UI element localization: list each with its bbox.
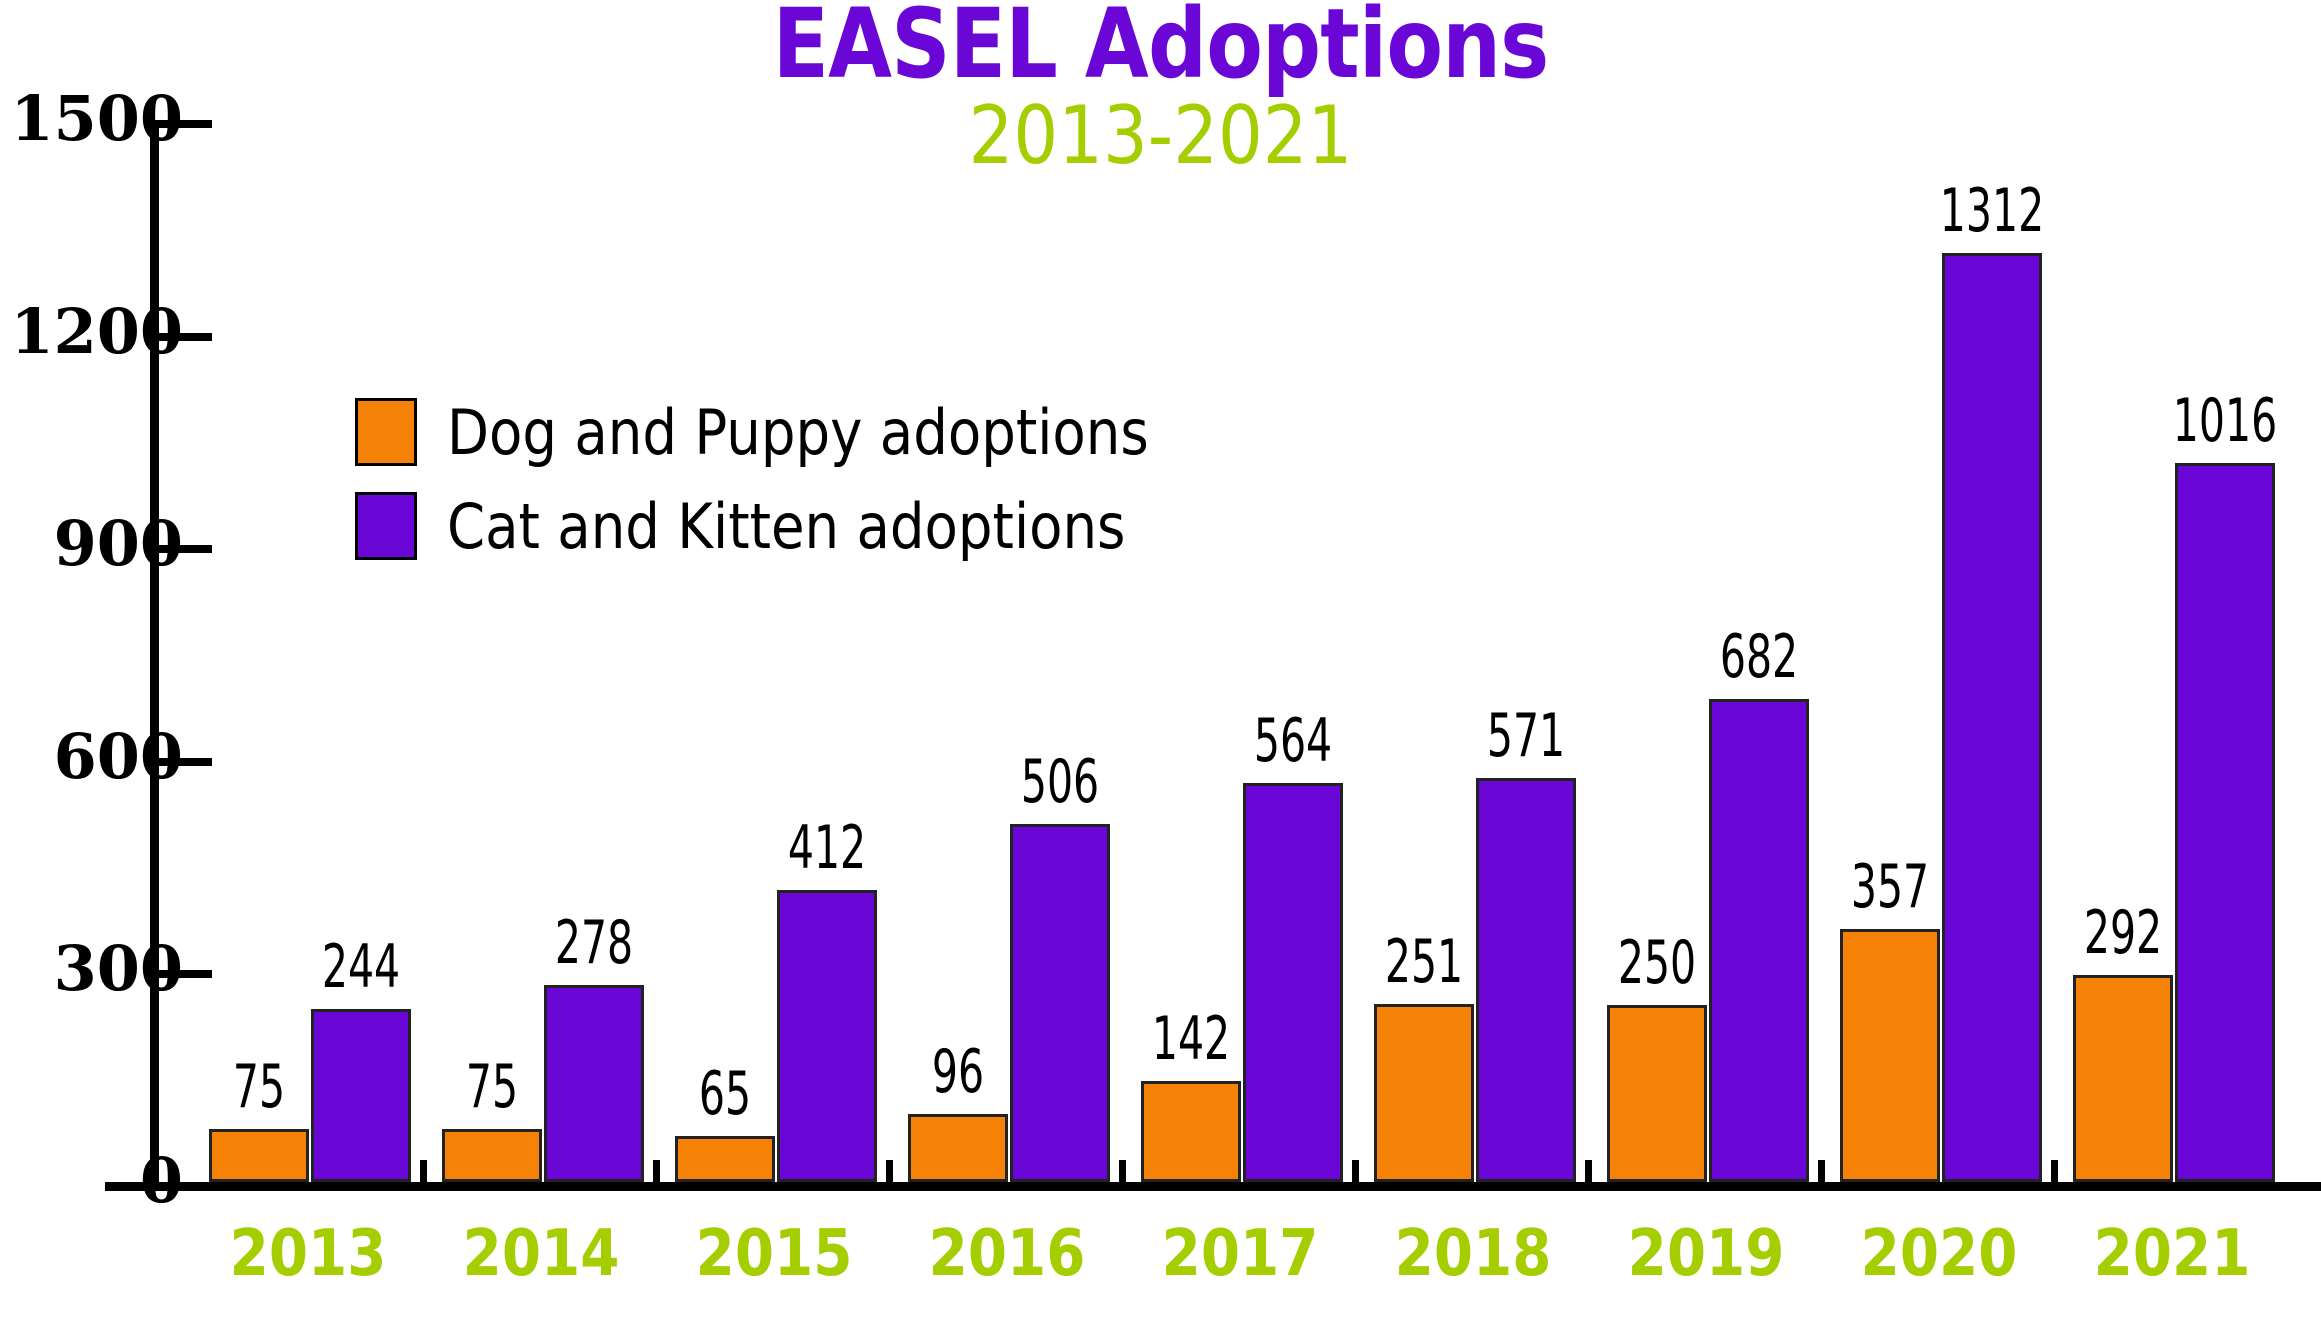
bar-chart: EASEL Adoptions 2013-2021 1500 1200 900 …: [0, 0, 2321, 1328]
x-label-2017: 2017: [1108, 1222, 1372, 1286]
x-label-2016: 2016: [875, 1222, 1139, 1286]
bar-dog-2021[interactable]: [2073, 975, 2173, 1182]
y-tick-label-1200: 1200: [0, 301, 183, 363]
bar-cat-2015[interactable]: [777, 890, 877, 1182]
plot-area: 7524475278654129650614256425157125068235…: [159, 120, 2321, 1182]
bar-value-cat-2019: 682: [1675, 627, 1842, 687]
bar-cat-2016[interactable]: [1010, 824, 1110, 1182]
bar-cat-2013[interactable]: [311, 1009, 411, 1182]
x-label-2014: 2014: [409, 1222, 673, 1286]
bar-value-cat-2016: 506: [976, 752, 1143, 812]
bar-dog-2020[interactable]: [1840, 929, 1940, 1182]
x-label-2021: 2021: [2040, 1222, 2304, 1286]
bar-value-cat-2013: 244: [277, 937, 444, 997]
y-axis-spine: [150, 120, 159, 1188]
bar-value-cat-2015: 412: [743, 818, 910, 878]
bar-dog-2018[interactable]: [1374, 1004, 1474, 1182]
x-label-2015: 2015: [642, 1222, 906, 1286]
bar-dog-2017[interactable]: [1141, 1081, 1241, 1182]
bar-value-cat-2021: 1016: [2141, 391, 2308, 451]
y-tick-label-0: 0: [0, 1150, 183, 1212]
bar-dog-2019[interactable]: [1607, 1005, 1707, 1182]
chart-title: EASEL Adoptions: [162, 0, 2158, 92]
bar-cat-2018[interactable]: [1476, 778, 1576, 1182]
y-tick-label-600: 600: [0, 726, 183, 788]
x-axis-baseline: [105, 1182, 2321, 1191]
bar-value-cat-2020: 1312: [1908, 181, 2075, 241]
bar-cat-2017[interactable]: [1243, 783, 1343, 1182]
x-label-2013: 2013: [176, 1222, 440, 1286]
y-tick-label-1500: 1500: [0, 88, 183, 150]
bar-dog-2014[interactable]: [442, 1129, 542, 1182]
y-tick-label-300: 300: [0, 938, 183, 1000]
x-label-2019: 2019: [1574, 1222, 1838, 1286]
bar-value-cat-2017: 564: [1209, 711, 1376, 771]
bar-cat-2020[interactable]: [1942, 253, 2042, 1182]
bar-dog-2016[interactable]: [908, 1114, 1008, 1182]
y-tick-label-900: 900: [0, 513, 183, 575]
bar-cat-2019[interactable]: [1709, 699, 1809, 1182]
bar-value-cat-2018: 571: [1442, 706, 1609, 766]
x-label-2020: 2020: [1807, 1222, 2071, 1286]
bar-value-cat-2014: 278: [510, 913, 677, 973]
bar-dog-2015[interactable]: [675, 1136, 775, 1182]
bar-dog-2013[interactable]: [209, 1129, 309, 1182]
x-label-2018: 2018: [1341, 1222, 1605, 1286]
bar-cat-2014[interactable]: [544, 985, 644, 1182]
bar-cat-2021[interactable]: [2175, 463, 2275, 1182]
